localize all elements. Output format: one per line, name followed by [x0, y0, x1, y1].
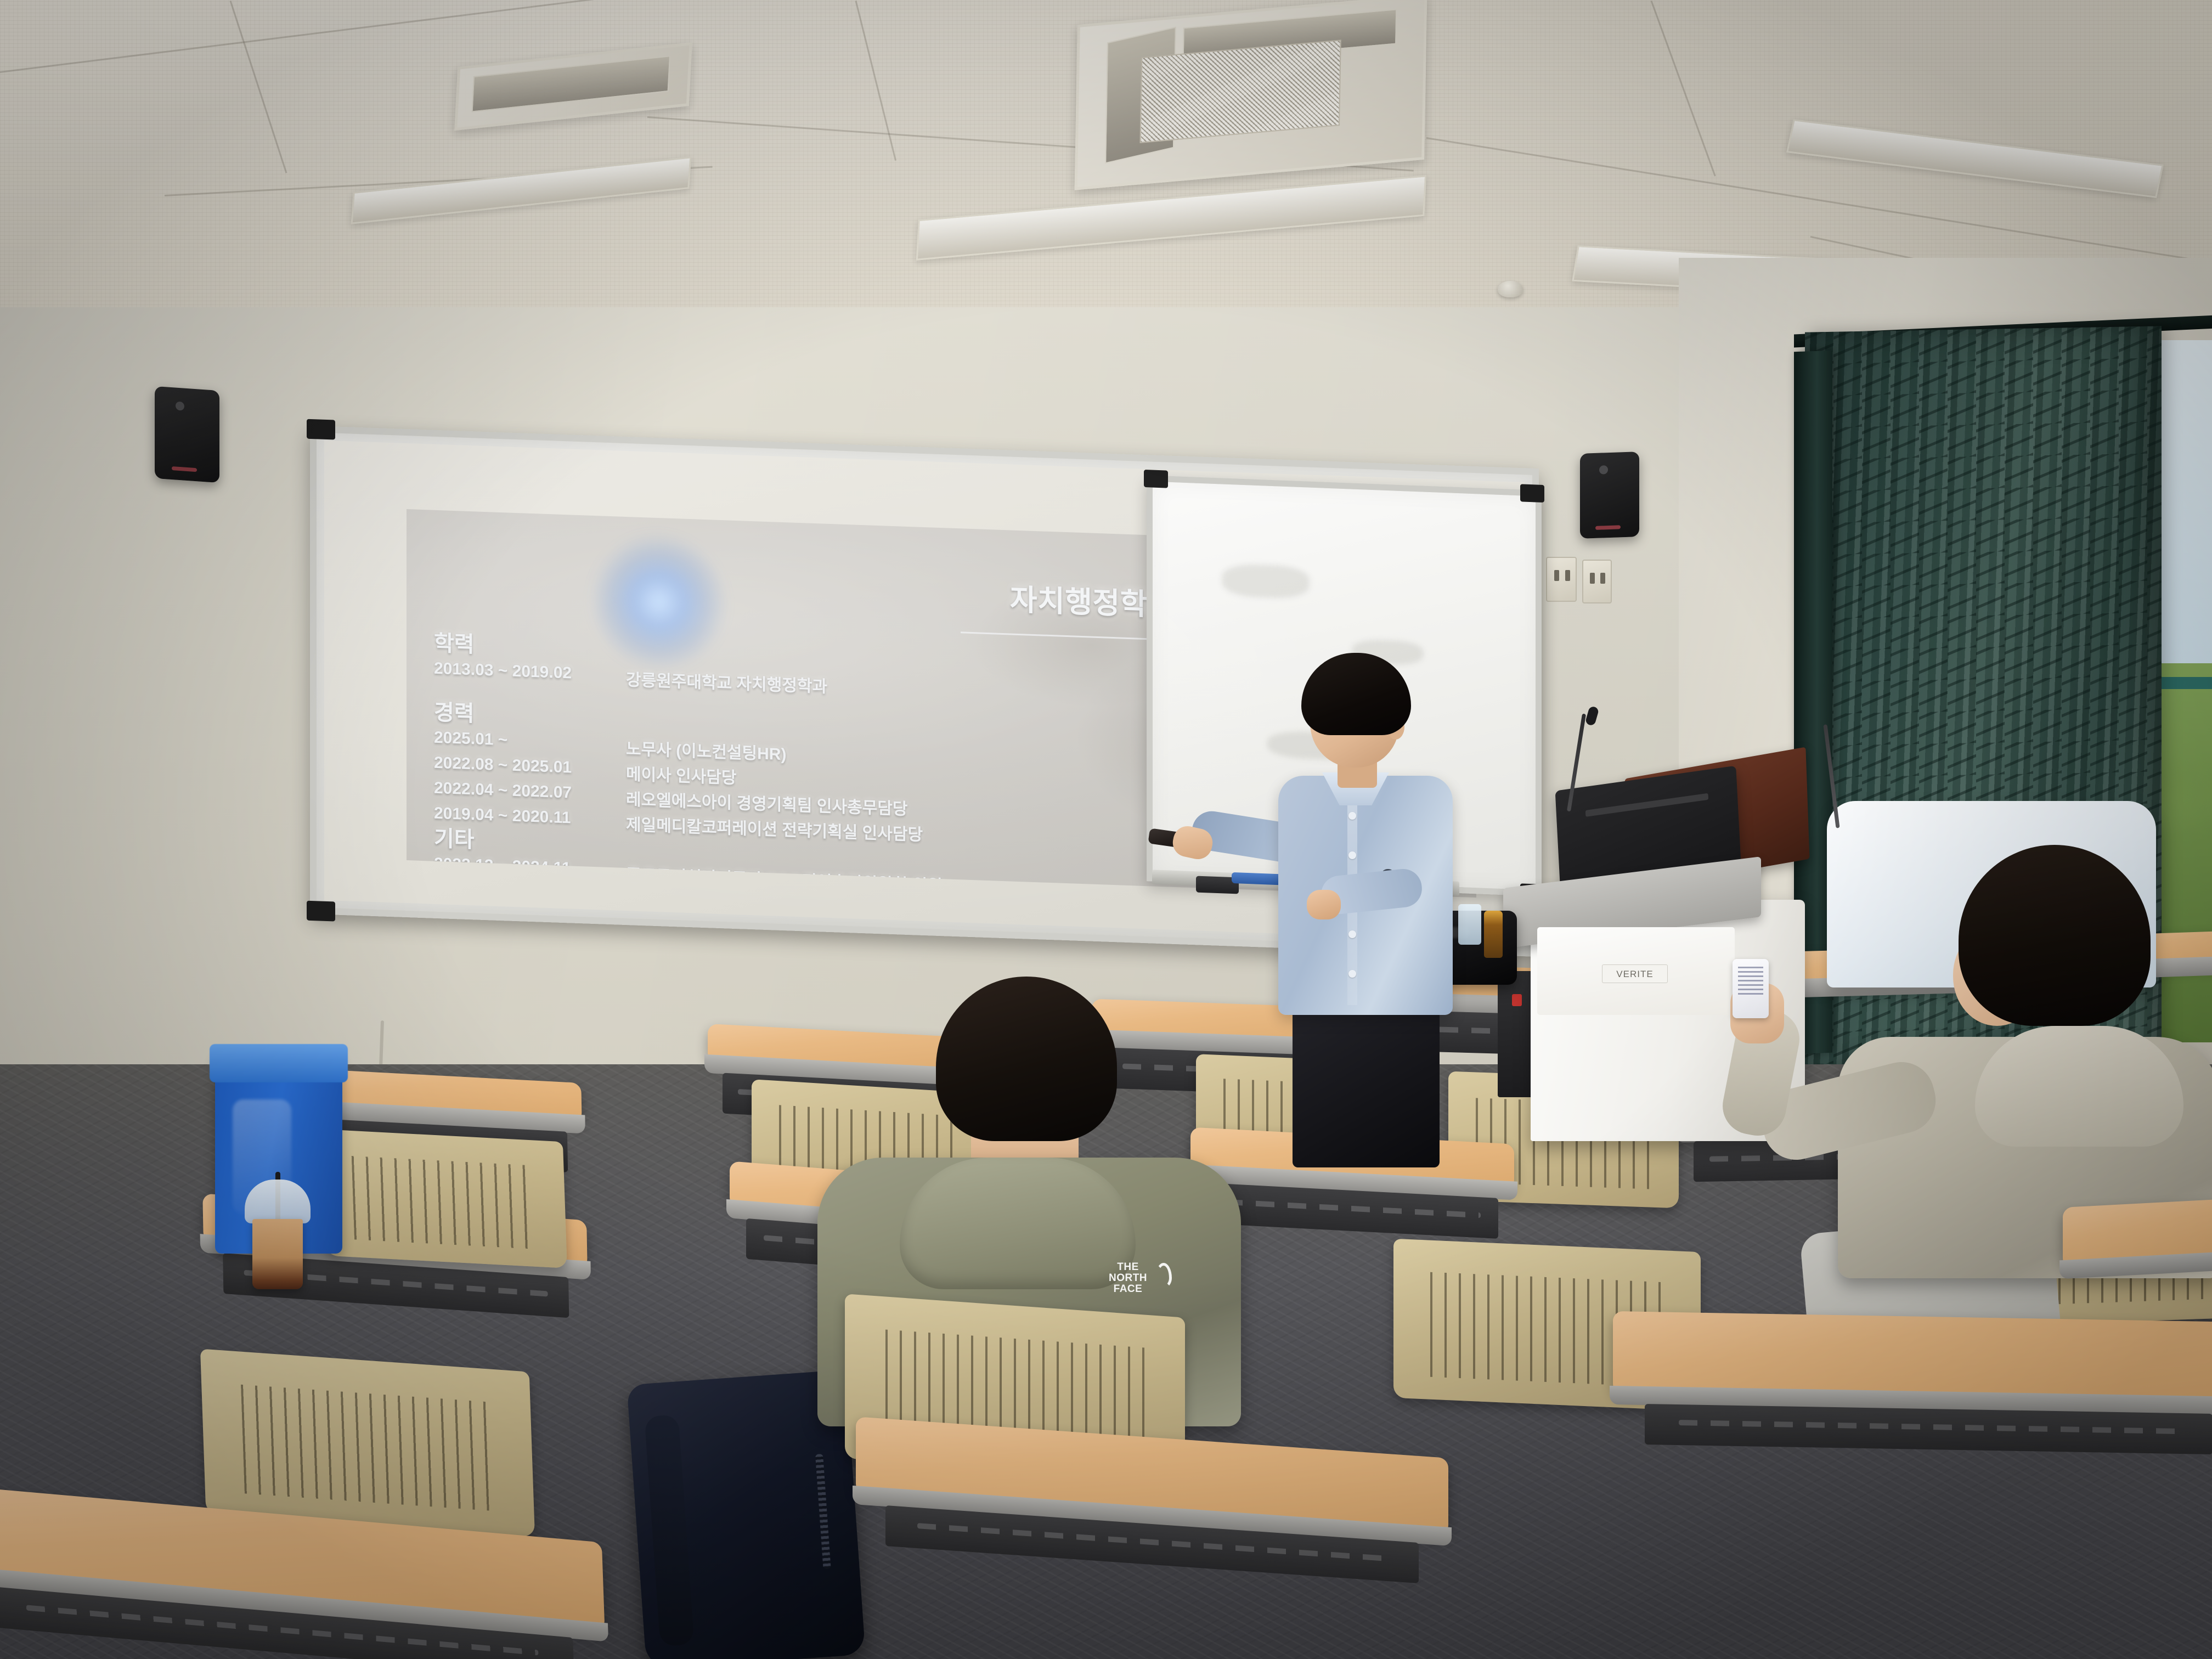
- wall-speaker-left: [155, 386, 219, 483]
- board2-corner-clip-tl: [1144, 470, 1168, 488]
- student-b-hair: [1959, 845, 2151, 1026]
- board-corner-clip-tl: [307, 419, 335, 440]
- row-detail: 민주평화통일자문회의(대통령 자문기구) 자문위원: [626, 887, 964, 898]
- slide-section-heading-education: 학력: [434, 625, 475, 659]
- presenter-hand-left: [1307, 890, 1341, 919]
- wall-outlet-1[interactable]: [1546, 557, 1577, 602]
- row-date: 2022.08 ~ 2025.01: [434, 754, 572, 777]
- ac-cassette-unit-1: [1075, 0, 1427, 190]
- iced-coffee-cup[interactable]: [248, 1180, 307, 1289]
- wall-outlet-2[interactable]: [1582, 560, 1612, 603]
- shirt-button-1: [1348, 812, 1356, 820]
- desk-front-right: [1613, 1311, 2212, 1404]
- student-a-hair: [936, 977, 1117, 1141]
- board2-corner-clip-tr: [1520, 484, 1544, 503]
- row-date: 2013.03 ~ 2019.02: [434, 659, 572, 683]
- presenter-hair: [1301, 653, 1411, 735]
- north-face-logo: THE NORTH FACE: [1098, 1262, 1158, 1296]
- coffee-cup-body: [252, 1219, 303, 1289]
- lectern-brand-label: VERITE: [1602, 964, 1668, 983]
- row-detail: 메이사 인사담당: [626, 760, 737, 788]
- presenter-trousers: [1293, 997, 1440, 1167]
- desk-right-edge: [2063, 1195, 2212, 1268]
- brand-line-1: THE: [1117, 1261, 1139, 1273]
- row-date: 2022.12 ~ 2024.11: [434, 855, 571, 878]
- brand-line-2: NORTH: [1109, 1272, 1147, 1284]
- backpack-zipper: [815, 1454, 831, 1569]
- chair-left-fore[interactable]: [200, 1348, 535, 1537]
- row-date: 2017.09 ~ 2019.08: [434, 880, 572, 898]
- projector-hotspot: [590, 531, 727, 673]
- brand-line-3: FACE: [1114, 1283, 1143, 1295]
- chair-back-left[interactable]: [321, 1129, 567, 1268]
- monitor-vent: [1585, 793, 1709, 817]
- row-detail: 노무사 (이노컨설팅HR): [626, 735, 786, 765]
- trash-bin-liner: [210, 1044, 348, 1082]
- coffee-lid: [245, 1180, 311, 1223]
- lectern-power-button[interactable]: [1512, 994, 1522, 1006]
- row-detail: 종로구시설관리공단 ESG경영추진위원회 위원: [626, 861, 943, 896]
- smartphone[interactable]: [1733, 959, 1769, 1018]
- student-b-hood: [1975, 1026, 2183, 1147]
- shirt-button-2: [1348, 851, 1356, 859]
- row-detail: 강릉원주대학교 자치행정학과: [626, 666, 827, 697]
- board-corner-clip-bl: [307, 901, 335, 922]
- smoke-detector: [1498, 281, 1523, 297]
- row-date: 2022.04 ~ 2022.07: [434, 779, 572, 803]
- student-right: [1772, 845, 2211, 1361]
- shirt-button-5: [1348, 970, 1356, 978]
- shirt-button-4: [1348, 930, 1356, 938]
- backpack-strap: [644, 1414, 694, 1646]
- wall-speaker-right: [1580, 452, 1639, 539]
- north-face-arc-icon: [1155, 1263, 1172, 1288]
- slide-section-heading-other: 기타: [434, 821, 475, 854]
- row-date: 2025.01 ~: [434, 729, 507, 750]
- classroom-scene: 안녕하세요, 자치행정학과 13학번 최정욱입니다. 학력 2013.03 ~ …: [0, 0, 2212, 1659]
- slide-section-heading-career: 경력: [434, 695, 475, 728]
- presenter: [1240, 653, 1503, 1163]
